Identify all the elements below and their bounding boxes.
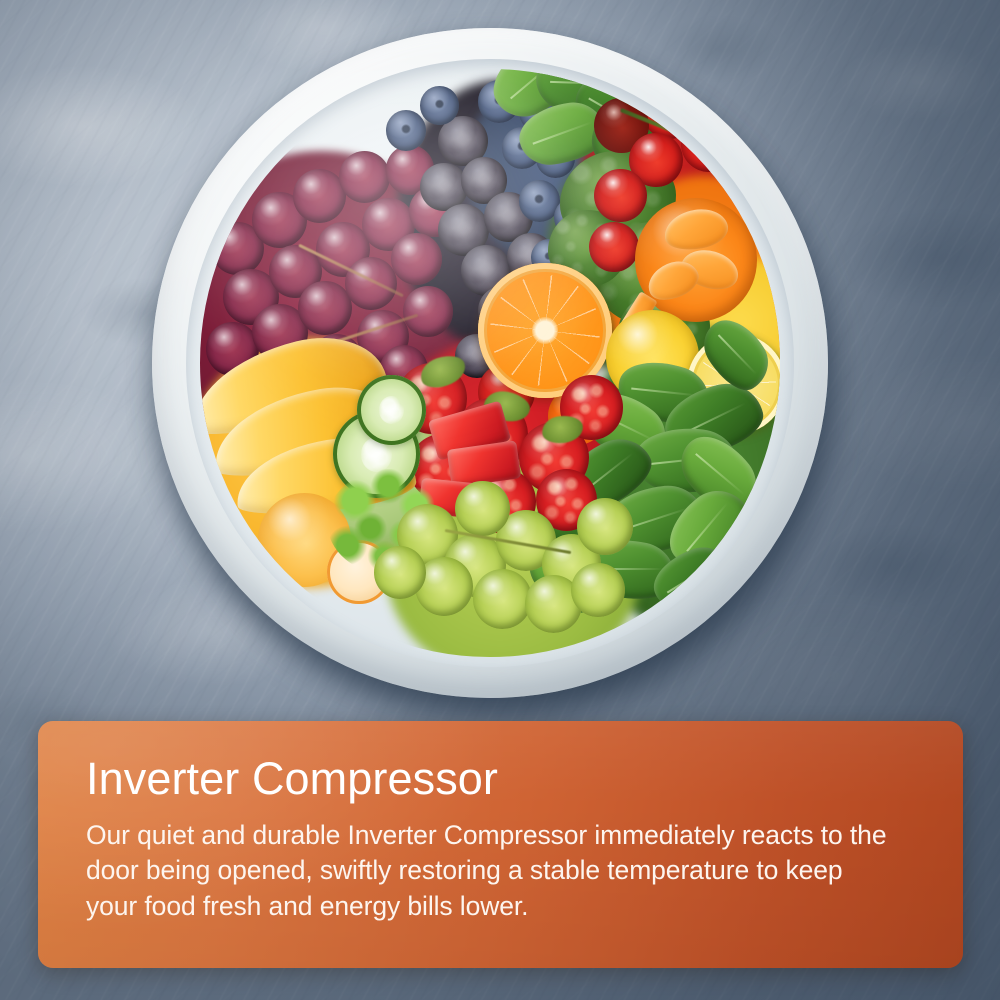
feature-title: Inverter Compressor bbox=[86, 755, 911, 802]
produce-arrangement bbox=[200, 69, 780, 658]
green-grape bbox=[455, 481, 510, 536]
cherry-tomato bbox=[589, 222, 639, 273]
red-grape bbox=[293, 169, 346, 223]
green-grape bbox=[577, 498, 633, 555]
red-grape bbox=[403, 286, 453, 337]
bowl-inner-well bbox=[186, 59, 793, 667]
white-ceramic-bowl bbox=[152, 28, 828, 698]
green-grape bbox=[473, 569, 532, 629]
cherry-tomato bbox=[594, 169, 646, 222]
green-grape bbox=[374, 546, 426, 599]
green-grape bbox=[571, 563, 624, 617]
blueberry bbox=[420, 86, 458, 125]
red-grape bbox=[345, 257, 397, 310]
feature-card: Inverter Compressor Our quiet and durabl… bbox=[38, 721, 963, 968]
cucumber-slice bbox=[357, 375, 427, 446]
feature-banner: Inverter Compressor Our quiet and durabl… bbox=[0, 0, 1000, 1000]
blueberry bbox=[386, 110, 427, 151]
feature-description: Our quiet and durable Inverter Compresso… bbox=[86, 818, 892, 924]
card-body: Inverter Compressor Our quiet and durabl… bbox=[38, 721, 963, 924]
cherry-tomato bbox=[681, 116, 737, 173]
red-grape bbox=[298, 281, 351, 335]
red-grape bbox=[339, 151, 390, 203]
